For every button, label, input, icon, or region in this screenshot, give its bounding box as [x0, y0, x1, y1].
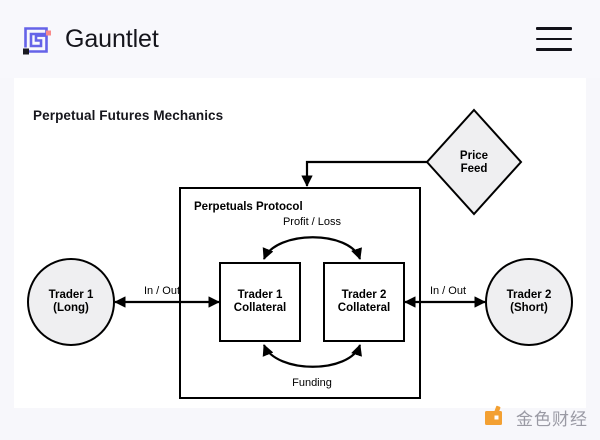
price-feed-label-line2: Feed [461, 163, 488, 175]
perpetual-futures-diagram: Price Feed Perpetuals Protocol Trader 1 … [14, 78, 586, 408]
node-trader2-collateral[interactable]: Trader 2 Collateral [324, 263, 404, 341]
brand-name: Gauntlet [65, 25, 159, 54]
gauntlet-g-logo-icon [22, 23, 52, 55]
protocol-label: Perpetuals Protocol [194, 201, 303, 213]
menu-bar-2 [536, 38, 572, 40]
funding-label: Funding [292, 377, 332, 389]
trader2-label-line2: (Short) [510, 302, 548, 314]
trader1-collateral-label-line2: Collateral [234, 302, 286, 314]
jinse-finance-logo-icon [482, 404, 508, 430]
trader2-collateral-label-line1: Trader 2 [342, 289, 387, 301]
trader2-collateral-label-line2: Collateral [338, 302, 390, 314]
trader1-collateral-label-line1: Trader 1 [238, 289, 283, 301]
in-out-left-label: In / Out [144, 285, 180, 297]
trader1-label-line2: (Long) [53, 302, 89, 314]
price-feed-label-line1: Price [460, 150, 488, 162]
menu-bar-1 [536, 27, 572, 29]
node-price-feed[interactable]: Price Feed [427, 110, 521, 214]
edge-price-feed-to-protocol [307, 162, 427, 186]
menu-bar-3 [536, 48, 572, 50]
profit-loss-label: Profit / Loss [283, 216, 342, 228]
node-trader2[interactable]: Trader 2 (Short) [486, 259, 572, 345]
watermark-text: 金色财经 [516, 405, 588, 430]
hamburger-menu-icon[interactable] [536, 22, 576, 56]
app-header: Gauntlet [0, 0, 600, 78]
watermark: 金色财经 [482, 404, 588, 430]
trader1-label-line1: Trader 1 [49, 289, 94, 301]
trader2-label-line1: Trader 2 [507, 289, 552, 301]
brand[interactable]: Gauntlet [22, 23, 159, 55]
price-feed-diamond [427, 110, 521, 214]
node-trader1[interactable]: Trader 1 (Long) [28, 259, 114, 345]
in-out-right-label: In / Out [430, 285, 466, 297]
node-trader1-collateral[interactable]: Trader 1 Collateral [220, 263, 300, 341]
diagram-card: Perpetual Futures Mechanics Price Feed P… [14, 78, 586, 408]
